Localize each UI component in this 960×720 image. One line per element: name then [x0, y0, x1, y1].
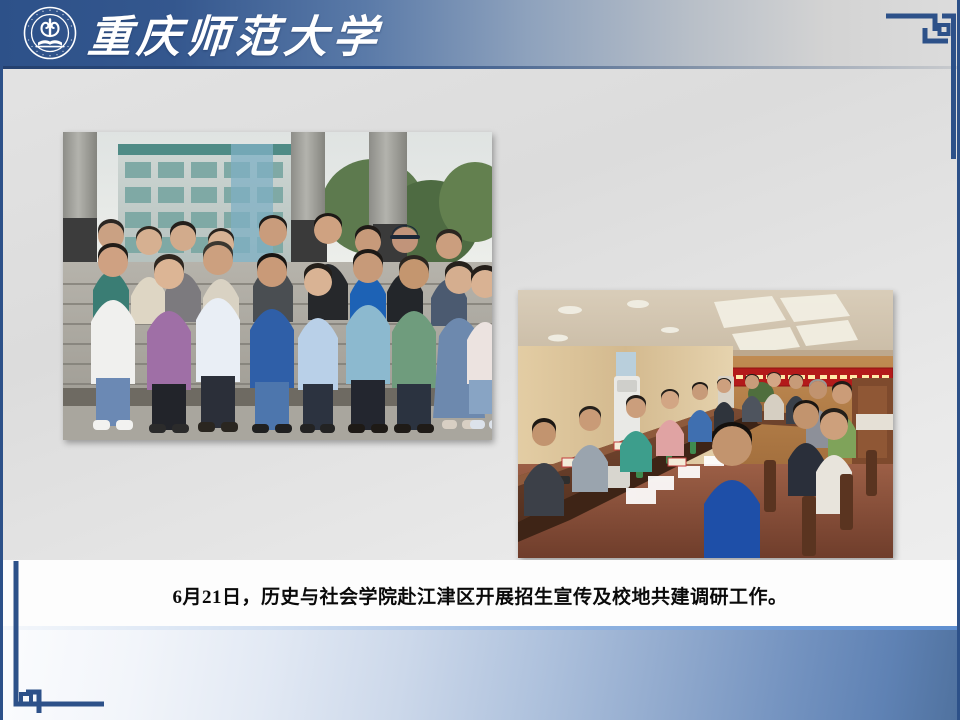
presentation-slide: 重庆师范大学 [0, 0, 960, 720]
meander-corner-icon-top-right [886, 4, 956, 159]
caption-area: 6月21日，历史与社会学院赴江津区开展招生宣传及校地共建调研工作。 [3, 560, 957, 626]
university-seal-icon [23, 6, 77, 60]
slide-caption: 6月21日，历史与社会学院赴江津区开展招生宣传及校地共建调研工作。 [3, 582, 957, 609]
footer-band [3, 630, 957, 720]
footer-hairline [3, 626, 957, 630]
left-edge-rule [0, 0, 3, 720]
meeting-photo [518, 290, 893, 558]
header-underline [0, 66, 960, 69]
group-photo [63, 132, 492, 440]
university-name: 重庆师范大学 [86, 4, 384, 62]
meander-corner-icon-bottom-left [4, 561, 104, 716]
